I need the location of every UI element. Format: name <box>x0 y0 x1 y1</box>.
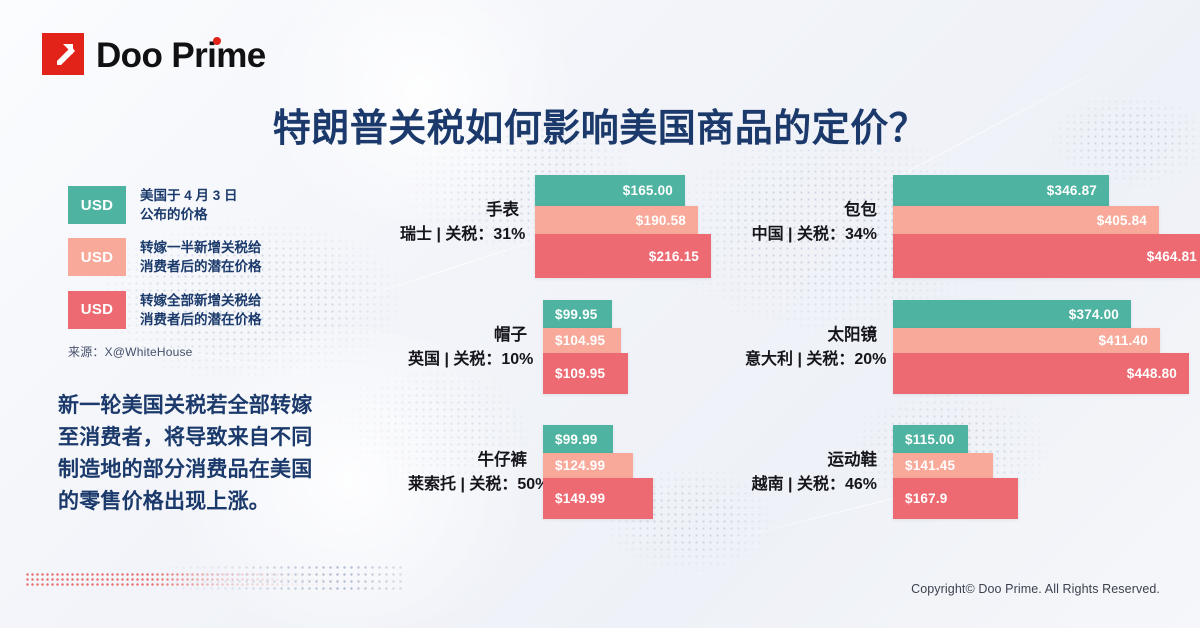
legend-item: USD 转嫁全部新增关税给 消费者后的潜在价格 <box>68 291 368 329</box>
legend: USD 美国于 4 月 3 日 公布的价格 USD 转嫁一半新增关税给 消费者后… <box>68 186 368 360</box>
chart-group: 太阳镜意大利 | 关税：20%$374.00$411.40$448.80 <box>745 300 1189 394</box>
chart-group: 包包中国 | 关税：34%$346.87$405.84$464.81 <box>745 175 1200 278</box>
price-bar-value: $99.95 <box>543 307 610 322</box>
chart-group-labels: 包包中国 | 关税：34% <box>745 175 893 246</box>
price-bar: $405.84 <box>893 206 1159 234</box>
summary-paragraph: 新一轮美国关税若全部转嫁 至消费者，将导致来自不同 制造地的部分消费品在美国 的… <box>58 390 388 518</box>
price-bar: $190.58 <box>535 206 698 234</box>
chart-column-left: 手表瑞士 | 关税：31%$165.00$190.58$216.15帽子英国 |… <box>400 175 760 540</box>
price-bar: $411.40 <box>893 328 1160 353</box>
infographic-poster: Doo Prime 特朗普关税如何影响美国商品的定价？ USD 美国于 4 月 … <box>0 0 1200 628</box>
price-bar-value: $115.00 <box>893 432 966 447</box>
price-bar: $141.45 <box>893 453 993 478</box>
origin-and-tariff: 英国 | 关税：10% <box>408 349 527 371</box>
chart-group-labels: 手表瑞士 | 关税：31% <box>400 175 535 246</box>
price-bar-value: $104.95 <box>543 333 617 348</box>
price-bar: $124.99 <box>543 453 633 478</box>
product-name: 包包 <box>745 199 877 221</box>
logo-wordmark: Doo Prime <box>96 36 266 73</box>
page-title: 特朗普关税如何影响美国商品的定价？ <box>0 97 1200 152</box>
price-bar-value: $109.95 <box>543 366 617 381</box>
legend-label-full-passthrough: 转嫁全部新增关税给 消费者后的潜在价格 <box>140 291 262 329</box>
price-bar: $216.15 <box>535 234 711 278</box>
price-bar: $99.99 <box>543 425 613 453</box>
chart-group: 牛仔裤莱索托 | 关税：50%$99.99$124.99$149.99 <box>408 425 653 519</box>
price-bar-value: $346.87 <box>1035 183 1109 198</box>
legend-item: USD 转嫁一半新增关税给 消费者后的潜在价格 <box>68 238 368 276</box>
price-bar: $104.95 <box>543 328 621 353</box>
chart-group-labels: 太阳镜意大利 | 关税：20% <box>745 300 893 371</box>
chart-group: 运动鞋越南 | 关税：46%$115.00$141.45$167.9 <box>745 425 1018 519</box>
chart-group-bars: $115.00$141.45$167.9 <box>893 425 1018 519</box>
price-bar-value: $405.84 <box>1085 213 1159 228</box>
price-bar: $109.95 <box>543 353 628 394</box>
origin-and-tariff: 意大利 | 关税：20% <box>745 349 877 371</box>
chart-group-bars: $165.00$190.58$216.15 <box>535 175 711 278</box>
chart-column-right: 包包中国 | 关税：34%$346.87$405.84$464.81太阳镜意大利… <box>745 175 1170 540</box>
logo-wordmark-text: Doo Prime <box>96 36 266 75</box>
brand-logo: Doo Prime <box>42 33 266 75</box>
legend-label-half-passthrough: 转嫁一半新增关税给 消费者后的潜在价格 <box>140 238 262 276</box>
price-bar: $167.9 <box>893 478 1018 519</box>
product-name: 太阳镜 <box>745 324 877 346</box>
chart-group-labels: 牛仔裤莱索托 | 关税：50% <box>408 425 543 496</box>
chart-group-labels: 运动鞋越南 | 关税：46% <box>745 425 893 496</box>
price-bar: $99.95 <box>543 300 612 328</box>
copyright-text: Copyright© Doo Prime. All Rights Reserve… <box>911 582 1160 596</box>
price-bar: $374.00 <box>893 300 1131 328</box>
doo-prime-arrow-icon <box>42 33 84 75</box>
origin-and-tariff: 瑞士 | 关税：31% <box>400 224 519 246</box>
price-bar: $448.80 <box>893 353 1189 394</box>
origin-and-tariff: 中国 | 关税：34% <box>745 224 877 246</box>
price-bar: $346.87 <box>893 175 1109 206</box>
logo-dot-icon <box>213 37 221 45</box>
price-bar: $149.99 <box>543 478 653 519</box>
chart-group-bars: $99.95$104.95$109.95 <box>543 300 628 394</box>
legend-label-published-price: 美国于 4 月 3 日 公布的价格 <box>140 186 238 224</box>
footer-grey-dot-pattern <box>145 564 405 592</box>
price-bar: $115.00 <box>893 425 968 453</box>
legend-swatch-published-price: USD <box>68 186 126 224</box>
price-bar-value: $165.00 <box>611 183 685 198</box>
tariff-bar-chart: 手表瑞士 | 关税：31%$165.00$190.58$216.15帽子英国 |… <box>400 175 1170 540</box>
price-bar-value: $374.00 <box>1057 307 1131 322</box>
price-bar: $165.00 <box>535 175 685 206</box>
price-bar-value: $216.15 <box>637 249 711 264</box>
price-bar-value: $124.99 <box>543 458 617 473</box>
price-bar-value: $464.81 <box>1135 249 1200 264</box>
chart-group-labels: 帽子英国 | 关税：10% <box>408 300 543 371</box>
price-bar-value: $448.80 <box>1115 366 1189 381</box>
price-bar-value: $167.9 <box>893 491 960 506</box>
price-bar-value: $411.40 <box>1087 333 1160 348</box>
price-bar: $464.81 <box>893 234 1200 278</box>
price-bar-value: $141.45 <box>893 458 967 473</box>
source-note: 来源：X@WhiteHouse <box>68 343 368 360</box>
origin-and-tariff: 越南 | 关税：46% <box>745 474 877 496</box>
chart-group-bars: $99.99$124.99$149.99 <box>543 425 653 519</box>
price-bar-value: $190.58 <box>624 213 698 228</box>
chart-group-bars: $346.87$405.84$464.81 <box>893 175 1200 278</box>
chart-group-bars: $374.00$411.40$448.80 <box>893 300 1189 394</box>
legend-swatch-half-passthrough: USD <box>68 238 126 276</box>
origin-and-tariff: 莱索托 | 关税：50% <box>408 474 527 496</box>
chart-group: 帽子英国 | 关税：10%$99.95$104.95$109.95 <box>408 300 628 394</box>
price-bar-value: $149.99 <box>543 491 617 506</box>
product-name: 运动鞋 <box>745 449 877 471</box>
product-name: 手表 <box>400 199 519 221</box>
legend-item: USD 美国于 4 月 3 日 公布的价格 <box>68 186 368 224</box>
product-name: 帽子 <box>408 324 527 346</box>
chart-group: 手表瑞士 | 关税：31%$165.00$190.58$216.15 <box>400 175 711 278</box>
product-name: 牛仔裤 <box>408 449 527 471</box>
legend-swatch-full-passthrough: USD <box>68 291 126 329</box>
price-bar-value: $99.99 <box>543 432 610 447</box>
